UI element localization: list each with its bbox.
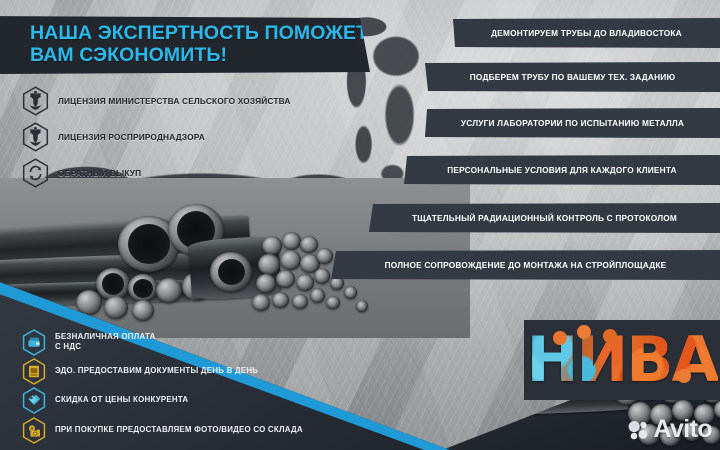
list-item: При покупке предоставляем фото/видео со …	[22, 417, 362, 443]
avito-wordmark: Avito	[653, 417, 712, 442]
avito-watermark: Avito	[628, 417, 712, 442]
benefit-list: Безналичная оплата с НДС ЭДО. Предостави…	[22, 326, 362, 443]
list-item-label: Безналичная оплата с НДС	[55, 332, 156, 352]
feature-bar-label: Полное сопровождение до монтажа на строй…	[375, 260, 677, 270]
list-item-label: ЭДО. Предоставим документы день в день	[55, 366, 258, 376]
feature-bar-label: Тщательный радиационный контроль с прото…	[402, 213, 687, 223]
feature-bar: Тщательный радиационный контроль с прото…	[369, 203, 720, 233]
document-stamp-icon	[22, 358, 46, 385]
feature-bar-label: Персональные условия для каждого клиента	[437, 165, 687, 175]
feature-bar: Полное сопровождение до монтажа на строй…	[331, 250, 720, 280]
price-tag-icon	[22, 387, 46, 414]
feature-bar: Подберем трубу по вашему тех. заданию	[425, 62, 720, 92]
list-item: Скидка от цены конкурента	[22, 387, 362, 413]
wallet-card-icon	[22, 329, 46, 356]
money-bag-camera-icon	[22, 417, 46, 444]
list-item: ЭДО. Предоставим документы день в день	[22, 358, 362, 384]
feature-bar: Персональные условия для каждого клиента	[404, 155, 720, 185]
list-item-label: При покупке предоставляем фото/видео со …	[55, 425, 303, 435]
feature-bar-label: Подберем трубу по вашему тех. заданию	[460, 72, 685, 82]
feature-bar-list: Демонтируем трубы до Владивостока Подбер…	[0, 0, 720, 290]
list-item-label: Скидка от цены конкурента	[55, 395, 188, 405]
list-item: Безналичная оплата с НДС	[22, 326, 362, 358]
banner-canvas: НАША ЭКСПЕРТНОСТЬ ПОМОЖЕТ ВАМ СЭКОНОМИТЬ…	[0, 0, 720, 450]
feature-bar: Услуги лаборатории по испытанию металла	[425, 108, 720, 138]
feature-bar-label: Услуги лаборатории по испытанию металла	[451, 118, 694, 128]
logo-text: НИВА	[526, 335, 717, 386]
avito-dots-icon	[628, 420, 648, 440]
feature-bar-label: Демонтируем трубы до Владивостока	[481, 28, 692, 38]
feature-bar: Демонтируем трубы до Владивостока	[453, 18, 720, 48]
company-logo: НИВА	[524, 320, 720, 400]
